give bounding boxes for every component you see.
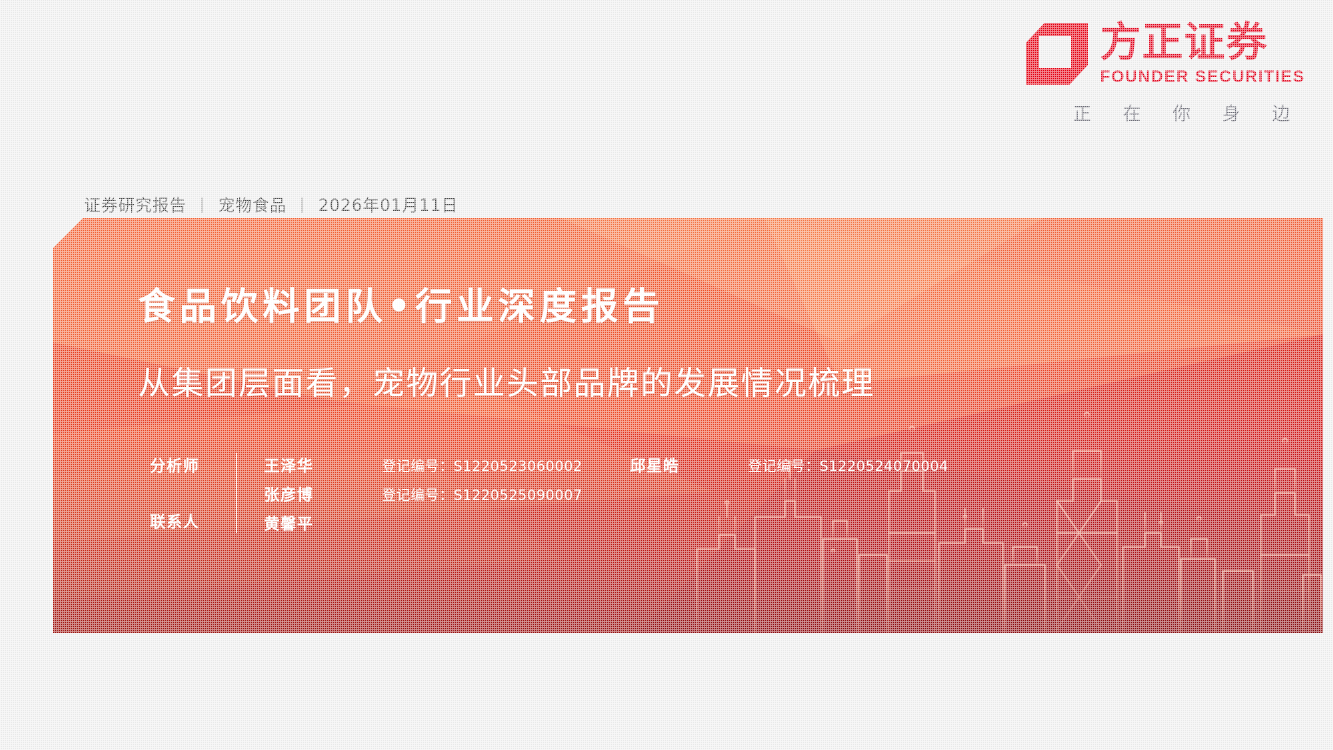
analyst-name: 王泽华: [264, 454, 382, 476]
analyst-name: 张彦博: [264, 483, 382, 505]
analyst-role-labels: 分析师 联系人: [150, 453, 230, 532]
breadcrumb-separator: |: [200, 195, 206, 213]
breadcrumb-item-report-type: 证券研究报告: [84, 192, 187, 216]
role-label-contact: 联系人: [150, 510, 230, 532]
breadcrumb: 证券研究报告 | 宠物食品 | 2026年01月11日: [84, 192, 458, 216]
banner-content: 食品饮料团队•行业深度报告 从集团层面看，宠物行业头部品牌的发展情况梳理 分析师…: [53, 218, 1323, 633]
analyst-name: 邱星皓: [630, 454, 748, 476]
brand-name-en: FOUNDER SECURITIES: [1100, 69, 1305, 86]
breadcrumb-item-date: 2026年01月11日: [318, 192, 458, 216]
analyst-row: 王泽华 登记编号：S1220523060002 邱星皓 登记编号：S122052…: [264, 454, 948, 477]
founder-diamond-logo-icon: [1026, 23, 1088, 85]
page-subtitle: 从集团层面看，宠物行业头部品牌的发展情况梳理: [138, 358, 875, 404]
brand-wordmark: 方正证券 FOUNDER SECURITIES: [1100, 22, 1305, 86]
breadcrumb-item-industry: 宠物食品: [218, 192, 286, 216]
role-label-analyst: 分析师: [150, 454, 230, 476]
contact-row: 黄馨平: [264, 512, 948, 535]
breadcrumb-separator: |: [300, 195, 306, 213]
analyst-row: 张彦博 登记编号：S1220525090007: [264, 483, 948, 506]
brand-tagline: 正 在 你 身 边: [1015, 100, 1305, 126]
page-title: 食品饮料团队•行业深度报告: [138, 276, 664, 330]
analyst-divider: [236, 453, 237, 533]
contact-name: 黄馨平: [264, 512, 382, 534]
cover-banner: 食品饮料团队•行业深度报告 从集团层面看，宠物行业头部品牌的发展情况梳理 分析师…: [53, 218, 1323, 633]
brand-name-cn: 方正证券: [1100, 22, 1268, 63]
brand-header: 方正证券 FOUNDER SECURITIES 正 在 你 身 边: [1015, 22, 1305, 126]
analyst-registration: 登记编号：S1220525090007: [382, 485, 630, 505]
brand-logo-row: 方正证券 FOUNDER SECURITIES: [1015, 22, 1305, 86]
analyst-registration: 登记编号：S1220524070004: [748, 456, 948, 476]
analyst-list: 王泽华 登记编号：S1220523060002 邱星皓 登记编号：S122052…: [264, 453, 948, 535]
analyst-registration: 登记编号：S1220523060002: [382, 456, 630, 476]
analyst-block: 分析师 联系人 王泽华 登记编号：S1220523060002 邱星皓 登记编号…: [150, 453, 948, 535]
